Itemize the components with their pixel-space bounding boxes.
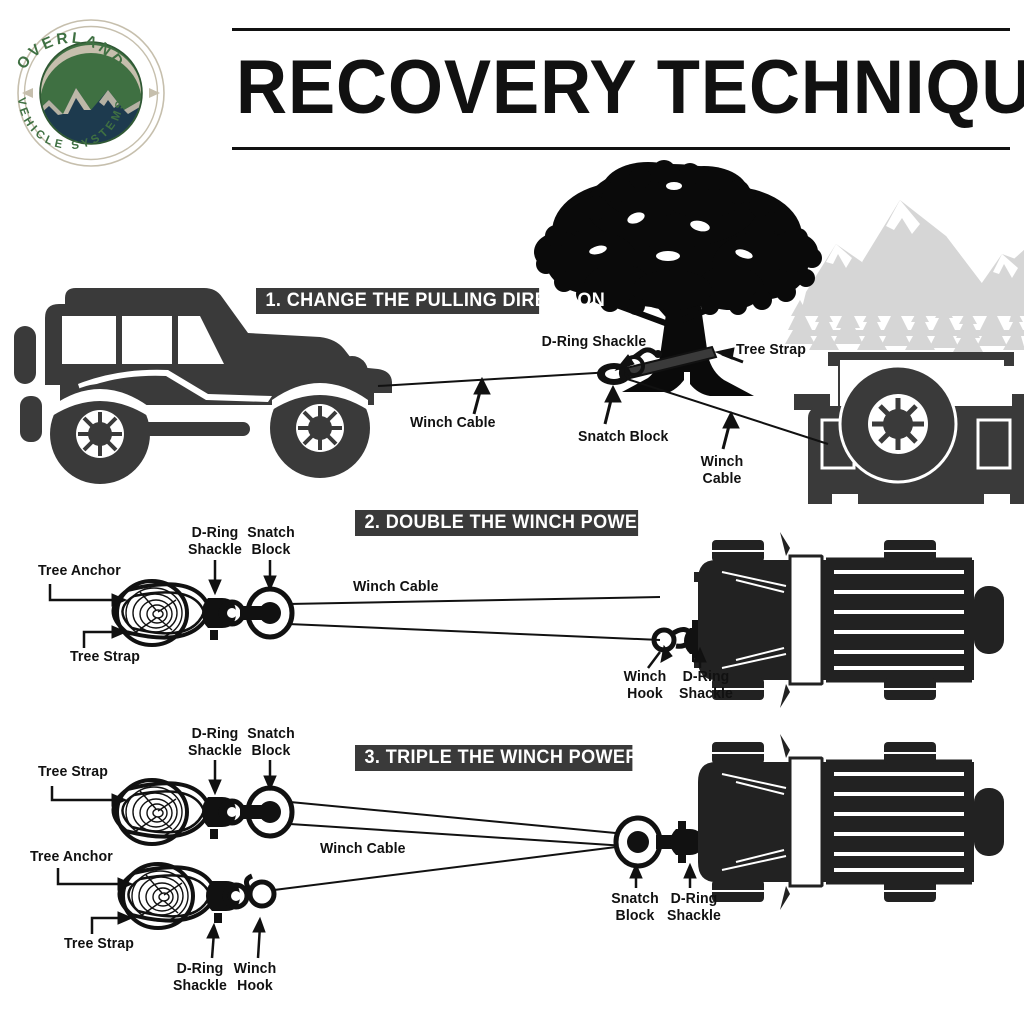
tree-anchor-stump-s3-lower: [119, 864, 216, 928]
header: OVERLAND VEHICLE SYSTEMS RECOVERY TECHNI…: [0, 0, 1024, 175]
section-heading-2: 2. DOUBLE THE WINCH POWER: [355, 510, 638, 536]
label-tree-strap-s1: Tree Strap: [736, 341, 806, 358]
label-d-ring-shackle-s1: D-Ring Shackle: [542, 333, 647, 350]
mountain-range-background: [785, 200, 1024, 352]
label-d-ring-shackle-vehicle-s3: D-Ring Shackle: [667, 890, 721, 924]
brand-logo: OVERLAND VEHICLE SYSTEMS: [16, 18, 206, 168]
title-rule-bottom: [232, 147, 1010, 150]
rigging-section-3-upper: [202, 788, 626, 846]
winch-cable-upper: [288, 597, 660, 604]
infographic-page: OVERLAND VEHICLE SYSTEMS RECOVERY TECHNI…: [0, 0, 1024, 1024]
label-d-ring-shackle-lower-s3: D-Ring Shackle: [173, 960, 227, 994]
rigging-section-2: [202, 589, 716, 662]
section-heading-1: 1. CHANGE THE PULLING DIRECTION: [256, 288, 539, 314]
tree-anchor-stump-s3-upper: [113, 780, 210, 844]
label-snatch-block-vehicle-s3: Snatch Block: [611, 890, 659, 924]
label-winch-cable-s2: Winch Cable: [353, 578, 439, 595]
label-d-ring-shackle-s2: D-Ring Shackle: [188, 524, 242, 558]
winch-cable-line-left: [378, 372, 612, 386]
label-tree-strap-s2: Tree Strap: [70, 648, 140, 665]
leader-arrows-section-2: [50, 560, 706, 668]
label-snatch-block-s1: Snatch Block: [578, 428, 668, 445]
label-winch-hook-s3: Winch Hook: [234, 960, 277, 994]
vehicle-top-view-jeep-s3: [698, 734, 1004, 910]
tree-strap-graphic: [618, 347, 716, 380]
vehicle-top-view-jeep-s2: [694, 532, 1004, 708]
title-block: RECOVERY TECHNIQUES: [232, 28, 1010, 150]
label-winch-hook-s2: Winch Hook: [624, 668, 667, 702]
tree-anchor-stump-s2: [113, 581, 210, 645]
winch-cable-lower: [288, 624, 660, 640]
page-title: RECOVERY TECHNIQUES: [236, 36, 1024, 140]
label-tree-anchor-s2: Tree Anchor: [38, 562, 121, 579]
vehicle-side-view-jeep: [14, 288, 392, 484]
rigging-section-3-lower: [206, 846, 624, 923]
label-tree-strap-upper-s3: Tree Strap: [38, 763, 108, 780]
tree-silhouette: [534, 160, 822, 396]
vehicle-rear-view-jeep: [794, 352, 1024, 504]
leader-arrows-section-3: [52, 760, 696, 958]
label-snatch-block-upper-s3: Snatch Block: [247, 725, 295, 759]
label-winch-cable-left-s1: Winch Cable: [410, 414, 496, 431]
label-d-ring-shackle-upper-s3: D-Ring Shackle: [188, 725, 242, 759]
label-d-ring-shackle-vehicle-s2: D-Ring Shackle: [679, 668, 733, 702]
label-tree-strap-lower-s3: Tree Strap: [64, 935, 134, 952]
rigging-section-3-vehicle: [616, 818, 702, 866]
overland-vehicle-systems-logo-icon: OVERLAND VEHICLE SYSTEMS: [16, 18, 206, 168]
label-snatch-block-s2: Snatch Block: [247, 524, 295, 558]
label-winch-cable-s3: Winch Cable: [320, 840, 406, 857]
label-winch-cable-right-s1: Winch Cable: [701, 453, 744, 487]
title-rule-top: [232, 28, 1010, 31]
label-tree-anchor-s3: Tree Anchor: [30, 848, 113, 865]
section-heading-3: 3. TRIPLE THE WINCH POWER: [355, 745, 632, 771]
